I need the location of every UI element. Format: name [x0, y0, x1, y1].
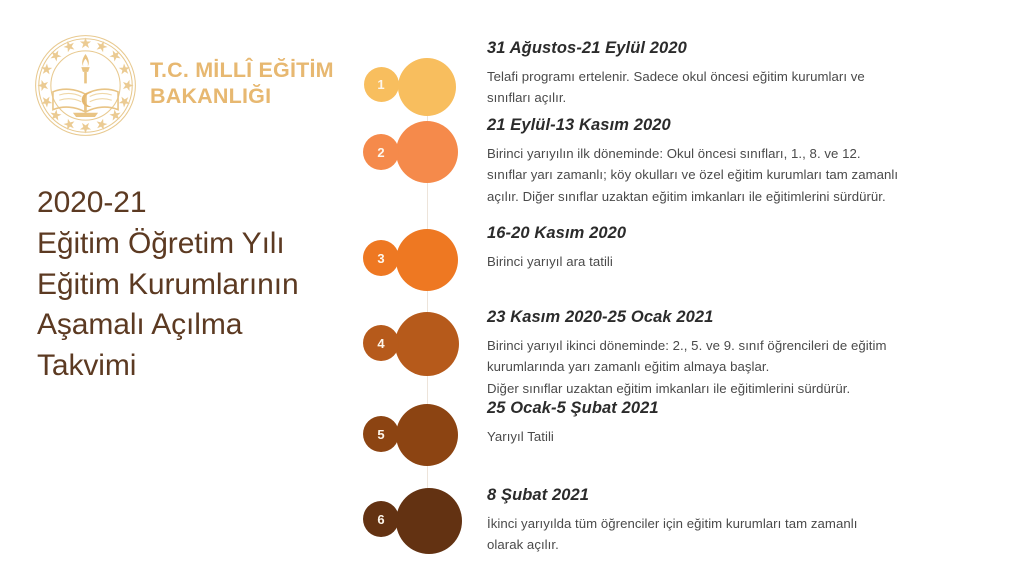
timeline-content: 25 Ocak-5 Şubat 2021Yarıyıl Tatili	[487, 399, 987, 447]
ministry-wordmark: T.C. MİLLÎ EĞİTİM BAKANLIĞI	[150, 58, 334, 112]
timeline-description: Telafi programı ertelenir. Sadece okul ö…	[487, 66, 987, 109]
timeline-date-range: 31 Ağustos-21 Eylül 2020	[487, 39, 987, 59]
timeline-description: Birinci yarıyıl ikinci döneminde: 2., 5.…	[487, 335, 987, 399]
timeline-date-range: 23 Kasım 2020-25 Ocak 2021	[487, 308, 987, 328]
ministry-logo: T.C. MİLLÎ EĞİTİM BAKANLIĞI	[33, 33, 334, 138]
timeline-description: İkinci yarıyılda tüm öğrenciler için eği…	[487, 513, 987, 556]
timeline-date-range: 25 Ocak-5 Şubat 2021	[487, 399, 987, 419]
timeline-date-range: 8 Şubat 2021	[487, 486, 987, 506]
timeline-connector	[427, 374, 428, 406]
timeline-content: 31 Ağustos-21 Eylül 2020Telafi programı …	[487, 39, 987, 109]
timeline-step-number: 1	[364, 67, 399, 102]
timeline-step-number: 5	[363, 416, 399, 452]
timeline-list: 131 Ağustos-21 Eylül 2020Telafi programı…	[355, 0, 1024, 576]
timeline-date-range: 21 Eylül-13 Kasım 2020	[487, 116, 987, 136]
timeline-content: 8 Şubat 2021İkinci yarıyılda tüm öğrenci…	[487, 486, 987, 556]
timeline-content: 23 Kasım 2020-25 Ocak 2021Birinci yarıyı…	[487, 308, 987, 399]
page-title: 2020-21 Eğitim Öğretim Yılı Eğitim Kurum…	[37, 183, 347, 387]
timeline-dot-large	[396, 404, 458, 466]
timeline-step-number: 6	[363, 501, 399, 537]
meb-seal-icon	[33, 33, 138, 138]
timeline-connector	[427, 464, 428, 490]
timeline-date-range: 16-20 Kasım 2020	[487, 224, 987, 244]
timeline-content: 21 Eylül-13 Kasım 2020Birinci yarıyılın …	[487, 116, 987, 207]
timeline-dot-large	[396, 488, 462, 554]
timeline-connector	[427, 289, 428, 314]
timeline-connector	[427, 181, 428, 231]
timeline-content: 16-20 Kasım 2020Birinci yarıyıl ara tati…	[487, 224, 987, 272]
timeline-dot-large	[396, 229, 458, 291]
timeline-description: Yarıyıl Tatili	[487, 426, 987, 447]
timeline-description: Birinci yarıyıl ara tatili	[487, 251, 987, 272]
left-panel: T.C. MİLLÎ EĞİTİM BAKANLIĞI 2020-21 Eğit…	[0, 0, 355, 576]
timeline-step-number: 3	[363, 240, 399, 276]
timeline-step-number: 2	[363, 134, 399, 170]
timeline-description: Birinci yarıyılın ilk döneminde: Okul ön…	[487, 143, 987, 207]
timeline-step-number: 4	[363, 325, 399, 361]
timeline-dot-large	[398, 58, 456, 116]
timeline-dot-large	[396, 121, 458, 183]
timeline-dot-large	[395, 312, 459, 376]
